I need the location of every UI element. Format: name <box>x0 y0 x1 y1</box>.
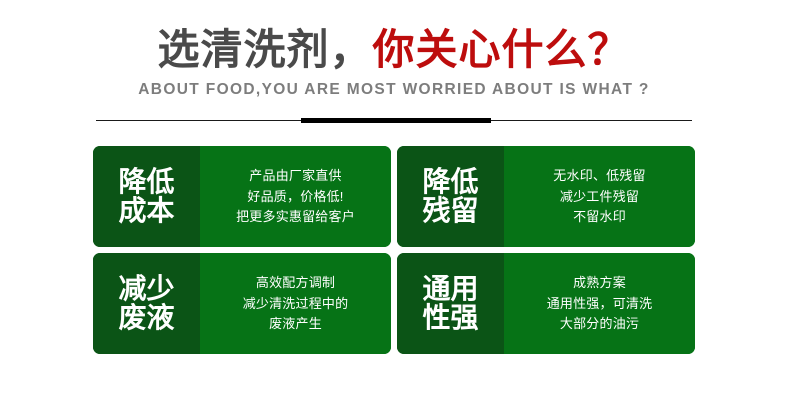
page-header: 选清洗剂，你关心什么？ ABOUT FOOD,YOU ARE MOST WORR… <box>0 0 788 99</box>
feature-card-body-line: 好品质，价格低! <box>247 187 343 208</box>
feature-card-body-line: 无水印、低残留 <box>553 166 645 187</box>
feature-card-body: 高效配方调制 减少清洗过程中的 废液产生 <box>200 253 391 354</box>
page-title-red-part: 你关心什么？ <box>373 26 631 73</box>
feature-card-label-panel: 减少 废液 <box>93 253 200 354</box>
page-title: 选清洗剂，你关心什么？ <box>0 27 788 72</box>
feature-card-body-line: 大部分的油污 <box>560 314 639 335</box>
feature-card-body-line: 废液产生 <box>269 314 322 335</box>
feature-card-body-line: 减少工件残留 <box>560 187 639 208</box>
feature-card-label-line2: 废液 <box>114 304 180 333</box>
page-subtitle: ABOUT FOOD,YOU ARE MOST WORRIED ABOUT IS… <box>0 81 788 99</box>
feature-cards-grid: 降低 成本 产品由厂家直供 好品质，价格低! 把更多实惠留给客户 降低 残留 无… <box>93 146 695 354</box>
page-title-dark-part: 选清洗剂， <box>157 26 372 73</box>
feature-card-residue[interactable]: 降低 残留 无水印、低残留 减少工件残留 不留水印 <box>397 146 695 247</box>
feature-card-label: 通用 性强 <box>418 275 484 333</box>
feature-card-body: 产品由厂家直供 好品质，价格低! 把更多实惠留给客户 <box>200 146 391 247</box>
feature-card-label: 减少 废液 <box>114 275 180 333</box>
header-divider <box>96 118 692 124</box>
feature-card-body-line: 通用性强，可清洗 <box>547 294 653 315</box>
feature-card-cost[interactable]: 降低 成本 产品由厂家直供 好品质，价格低! 把更多实惠留给客户 <box>93 146 391 247</box>
feature-card-label-line2: 成本 <box>114 197 180 226</box>
feature-card-body-line: 产品由厂家直供 <box>249 166 341 187</box>
feature-card-waste-liquid[interactable]: 减少 废液 高效配方调制 减少清洗过程中的 废液产生 <box>93 253 391 354</box>
feature-card-label-line1: 减少 <box>114 275 180 304</box>
feature-card-label-panel: 通用 性强 <box>397 253 504 354</box>
feature-card-body-line: 减少清洗过程中的 <box>243 294 349 315</box>
feature-card-label-line2: 性强 <box>418 304 484 333</box>
feature-card-body-line: 成熟方案 <box>573 273 626 294</box>
feature-card-label-line1: 降低 <box>114 168 180 197</box>
feature-card-body-line: 不留水印 <box>573 207 626 228</box>
feature-card-versatility[interactable]: 通用 性强 成熟方案 通用性强，可清洗 大部分的油污 <box>397 253 695 354</box>
feature-card-label-panel: 降低 成本 <box>93 146 200 247</box>
feature-card-body: 无水印、低残留 减少工件残留 不留水印 <box>504 146 695 247</box>
feature-card-body-line: 高效配方调制 <box>256 273 335 294</box>
feature-card-label-line1: 降低 <box>418 168 484 197</box>
feature-card-body: 成熟方案 通用性强，可清洗 大部分的油污 <box>504 253 695 354</box>
feature-card-label: 降低 残留 <box>418 168 484 226</box>
feature-card-body-line: 把更多实惠留给客户 <box>236 207 355 228</box>
divider-thick-segment <box>301 118 491 123</box>
feature-card-label-panel: 降低 残留 <box>397 146 504 247</box>
feature-card-label-line2: 残留 <box>418 197 484 226</box>
feature-card-label-line1: 通用 <box>418 275 484 304</box>
feature-card-label: 降低 成本 <box>114 168 180 226</box>
